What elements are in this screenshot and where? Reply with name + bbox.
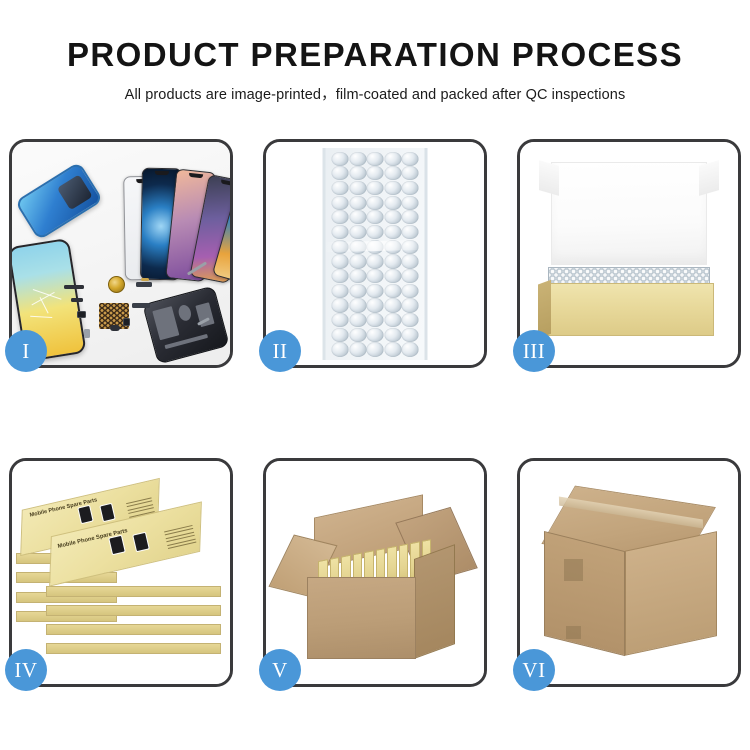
step-5-image: Retail boxes packed into shipping carton — [266, 461, 484, 684]
step-panel-6: Sealed and taped shipping carton VI — [517, 458, 741, 687]
speaker-part — [110, 325, 120, 331]
step-6-image: Sealed and taped shipping carton — [520, 461, 738, 684]
page-title: PRODUCT PREPARATION PROCESS — [0, 36, 750, 74]
phone-fan-group — [125, 155, 230, 280]
labelled-box-front: Mobile Phone Spare Parts — [50, 519, 201, 569]
carton-front-panel — [307, 577, 416, 660]
step-4-caption: Stacked retail boxes — [12, 461, 13, 462]
step-badge-3: III — [513, 330, 555, 372]
step-badge-2: II — [259, 330, 301, 372]
box-edge-r1 — [46, 586, 222, 597]
step-badge-4: IV — [5, 649, 47, 691]
step-6-caption: Sealed and taped shipping carton — [520, 461, 521, 462]
box-lid-flap — [551, 162, 708, 265]
flex-cable-part — [136, 282, 152, 287]
step-badge-1: I — [5, 330, 47, 372]
flex-cable-part-2 — [132, 303, 150, 308]
box-edge-r4 — [46, 643, 222, 654]
step-panel-4: Mobile Phone Spare Parts Mobile Phone Sp… — [9, 458, 233, 687]
carton-tab-lower — [566, 626, 581, 639]
carton-left-face — [544, 531, 625, 656]
page-subtitle: All products are image-printed，film-coat… — [0, 83, 750, 104]
step-5-caption: Retail boxes packed into shipping carton — [266, 461, 267, 462]
step-4-image: Mobile Phone Spare Parts Mobile Phone Sp… — [12, 461, 230, 684]
carton-tab-upper — [564, 559, 584, 581]
phone-chassis-back — [143, 286, 230, 365]
speaker-coil-part — [108, 276, 125, 293]
step-1-caption: Mobile phone screens and spare parts rea… — [12, 142, 13, 143]
step-panel-5: Retail boxes packed into shipping carton… — [263, 458, 487, 687]
button-part — [71, 298, 83, 302]
bubble-grid — [332, 152, 419, 356]
step-3-caption: Bubble-wrapped product placed inside ope… — [520, 142, 521, 143]
ic-chip-part — [77, 311, 86, 318]
step-panel-1: Mobile phone screens and spare parts rea… — [9, 139, 233, 368]
box-edge-r2 — [46, 605, 222, 616]
connector-part-1 — [64, 285, 84, 289]
step-panel-2: Product wrapped in bubble wrap film II — [263, 139, 487, 368]
battery-connector-part — [84, 329, 90, 338]
kraft-box-base — [544, 283, 714, 337]
gold-contact-part — [141, 278, 149, 281]
camera-module-part — [123, 318, 130, 326]
step-3-image: Bubble-wrapped product placed inside ope… — [520, 142, 738, 365]
step-badge-5: V — [259, 649, 301, 691]
carton-right-face — [625, 532, 717, 656]
tilted-blue-screen-part — [14, 161, 103, 240]
header: PRODUCT PREPARATION PROCESS All products… — [0, 0, 750, 104]
box-edge-r3 — [46, 624, 222, 635]
box-stack: Mobile Phone Spare Parts Mobile Phone Sp… — [16, 477, 225, 669]
product-preparation-infographic: PRODUCT PREPARATION PROCESS All products… — [0, 0, 750, 750]
step-2-image: Product wrapped in bubble wrap film — [266, 142, 484, 365]
step-2-caption: Product wrapped in bubble wrap film — [266, 142, 267, 143]
step-panel-3: Bubble-wrapped product placed inside ope… — [517, 139, 741, 368]
bubble-wrap-sheet — [323, 148, 428, 360]
steps-grid: Mobile phone screens and spare parts rea… — [9, 139, 741, 687]
step-1-image: Mobile phone screens and spare parts rea… — [12, 142, 230, 365]
carton-side-panel — [414, 544, 455, 659]
step-badge-6: VI — [513, 649, 555, 691]
